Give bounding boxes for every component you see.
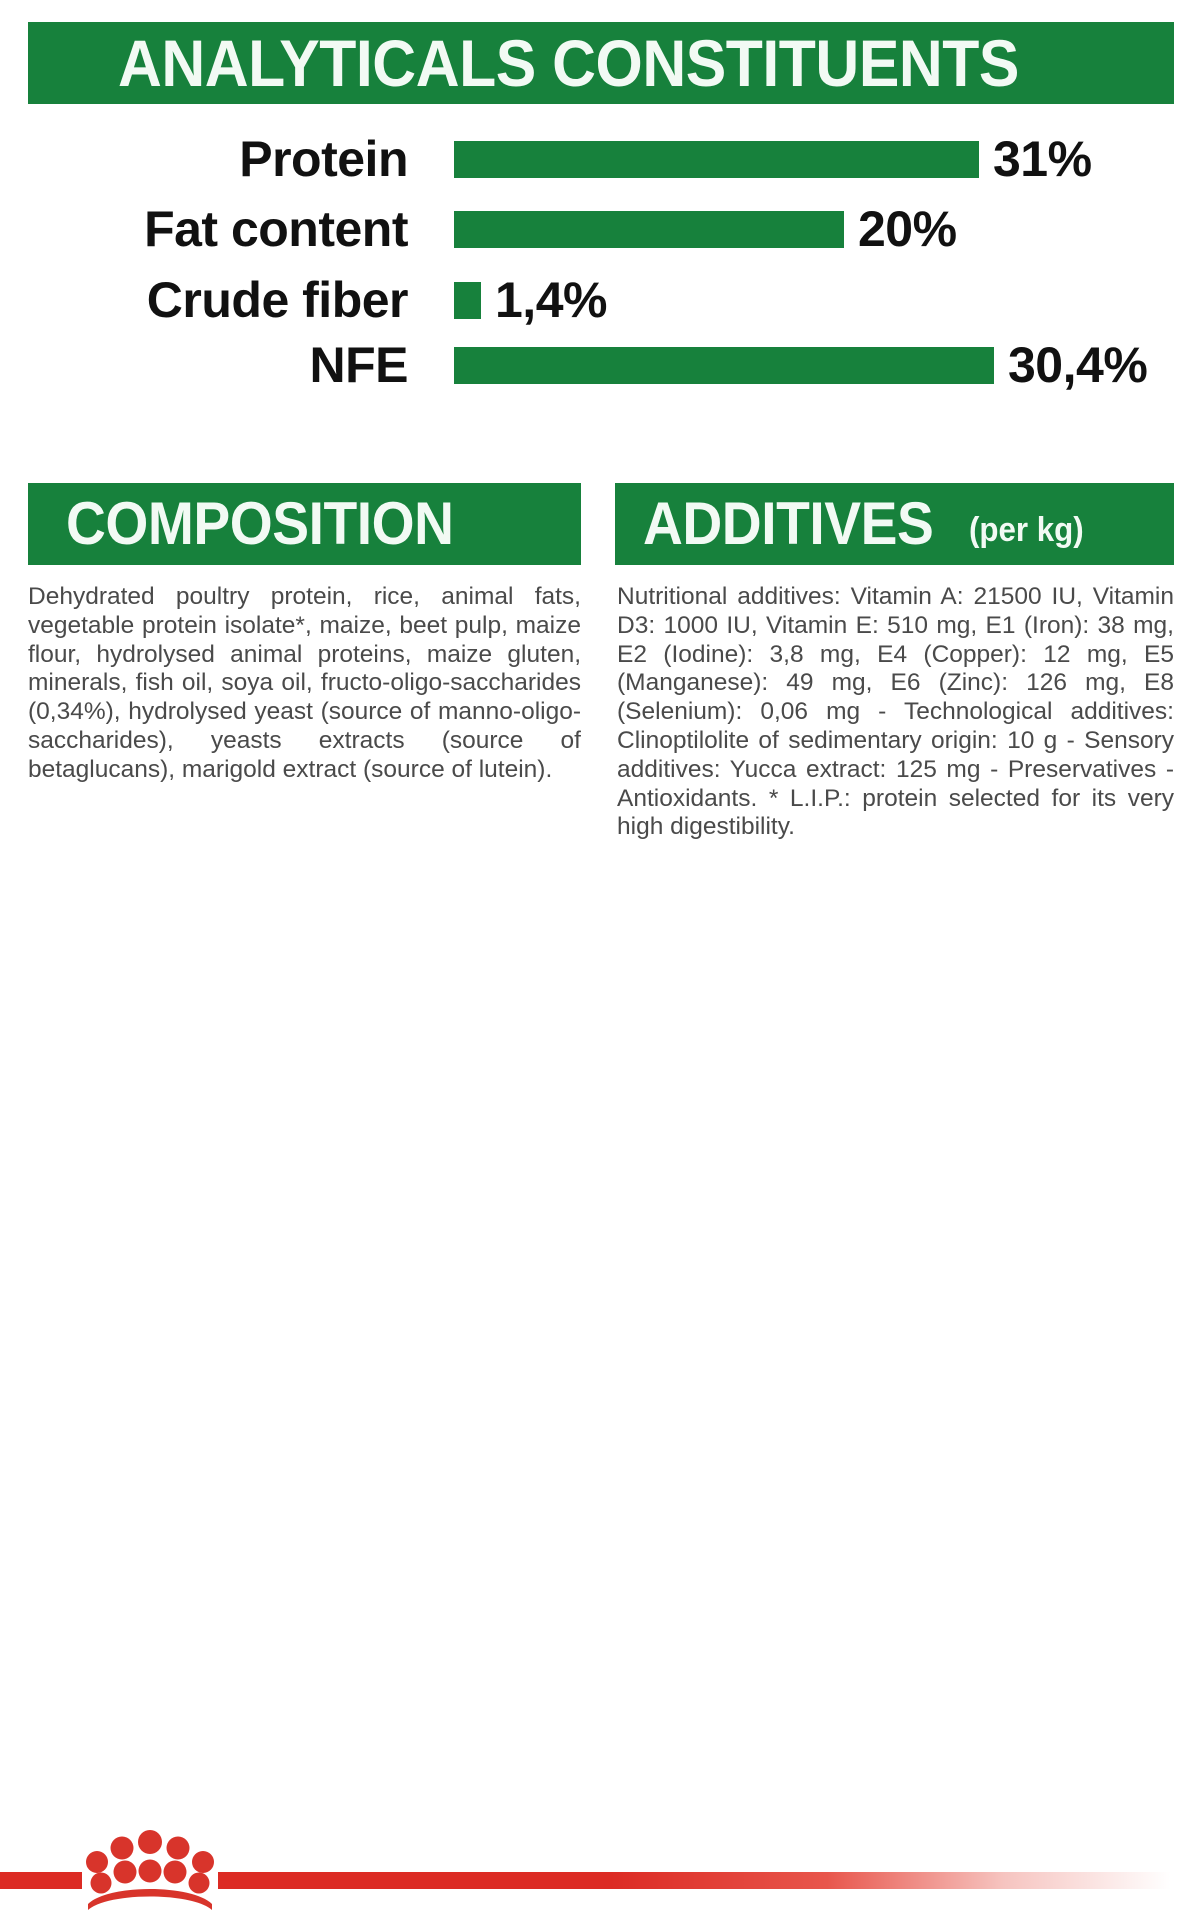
composition-text: Dehydrated poultry protein, rice, animal…: [28, 583, 581, 785]
chart-value-label: 1,4%: [495, 275, 607, 325]
additives-subtitle: (per kg): [969, 513, 1084, 547]
chart-category-label: NFE: [0, 340, 408, 390]
royal-canin-crown-icon: [82, 1828, 218, 1910]
chart-bar-group: 1,4%: [454, 275, 607, 325]
chart-bar: [454, 211, 844, 248]
additives-title: ADDITIVES: [643, 494, 933, 554]
chart-bar: [454, 141, 979, 178]
composition-header: COMPOSITION: [28, 483, 581, 565]
chart-bar-group: 30,4%: [454, 340, 1147, 390]
additives-header: ADDITIVES (per kg): [615, 483, 1174, 565]
analyticals-constituents-chart: Protein 31% Fat content 20% Crude fiber …: [0, 132, 1200, 412]
chart-value-label: 30,4%: [1008, 340, 1147, 390]
footer-rule-left: [0, 1872, 82, 1889]
footer: [0, 900, 1200, 1034]
footer-rule-right: [218, 1872, 1200, 1889]
analyticals-constituents-title: ANALYTICALS CONSTITUENTS: [118, 30, 1019, 96]
chart-category-label: Fat content: [0, 204, 408, 254]
composition-title: COMPOSITION: [66, 494, 453, 554]
chart-bar: [454, 347, 994, 384]
chart-bar-group: 20%: [454, 204, 957, 254]
chart-bar-group: 31%: [454, 134, 1092, 184]
chart-row: Protein 31%: [0, 132, 1200, 186]
chart-value-label: 20%: [858, 204, 957, 254]
chart-category-label: Protein: [0, 134, 408, 184]
analyticals-constituents-header: ANALYTICALS CONSTITUENTS: [28, 22, 1174, 104]
chart-value-label: 31%: [993, 134, 1092, 184]
additives-text: Nutritional additives: Vitamin A: 21500 …: [617, 583, 1174, 842]
chart-bar: [454, 282, 481, 319]
chart-row: NFE 30,4%: [0, 338, 1200, 392]
chart-row: Crude fiber 1,4%: [0, 273, 1200, 327]
chart-row: Fat content 20%: [0, 202, 1200, 256]
chart-category-label: Crude fiber: [0, 275, 408, 325]
